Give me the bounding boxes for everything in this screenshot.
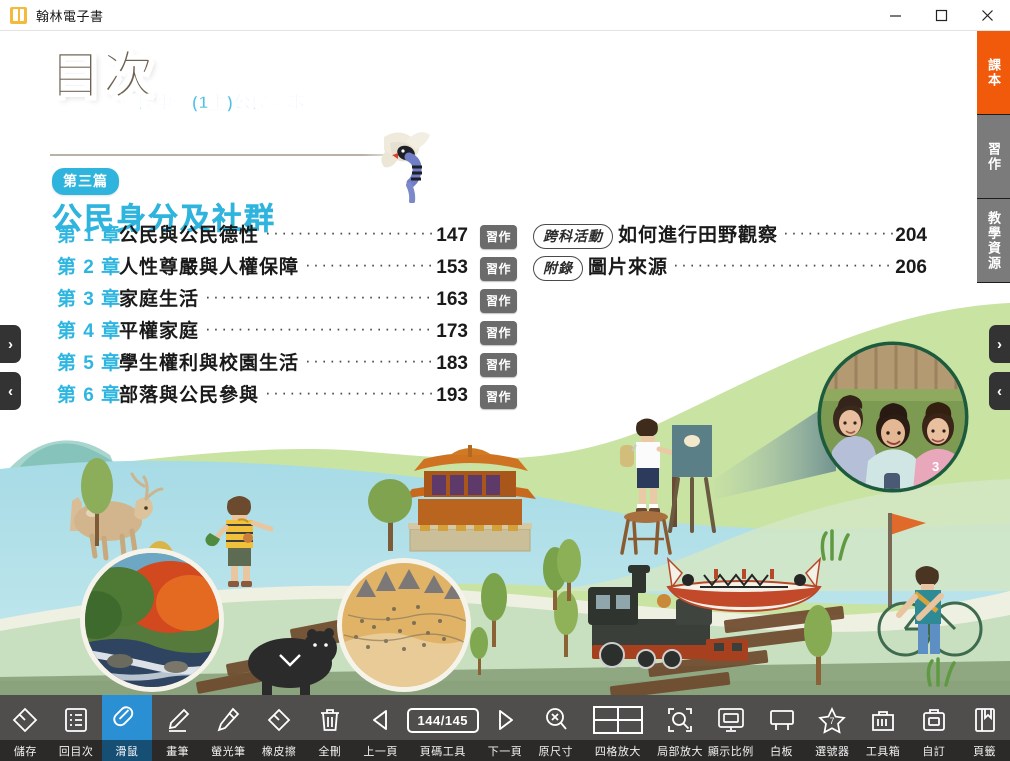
toc-row[interactable]: 第 5 章 學生權利與校園生活 ························… (57, 348, 517, 380)
chapter-page: 153 (434, 257, 474, 279)
toc-right-column: 跨科活動 如何進行田野觀察 ··························… (533, 220, 933, 284)
svg-text:7: 7 (830, 716, 835, 726)
toolbar-label: 白板 (756, 743, 807, 759)
chapter-number: 第 6 章 (57, 380, 119, 407)
toolbar-label: 上一頁 (355, 743, 406, 759)
highlighter-icon (215, 701, 241, 739)
toolbar-button-custom[interactable]: 自訂 (908, 695, 959, 761)
toc-left-column: 第 1 章 公民與公民德性 ··························… (57, 220, 517, 412)
chapter-title: 學生權利與校園生活 (119, 348, 305, 375)
bottom-toolbar: 儲存 回目次 滑鼠 (0, 695, 1010, 761)
blue-magpie-bird-icon (376, 123, 432, 203)
toc-row[interactable]: 第 3 章 家庭生活 ·····························… (57, 284, 517, 316)
workbook-button[interactable]: 習作 (480, 353, 517, 377)
custom-briefcase-icon (920, 701, 948, 739)
page-number-box-icon: 144/145 (407, 701, 480, 739)
toolbar-button-clear-all[interactable]: 全刪 (305, 695, 356, 761)
toolbar-button-save[interactable]: 儲存 (0, 695, 51, 761)
chapter-number: 第 3 章 (57, 284, 119, 311)
ebook-reader-window: 翰林電子書 (0, 0, 1010, 761)
minimize-icon[interactable] (872, 0, 918, 31)
toolbar-label: 工具箱 (858, 743, 909, 759)
toolbar-label: 螢光筆 (203, 743, 254, 759)
workbook-button[interactable]: 習作 (480, 385, 517, 409)
bookmark-tab-icon (972, 701, 998, 739)
chapter-page: 183 (434, 353, 474, 375)
toolbar-button-page-tool[interactable]: 144/145 頁碼工具 (406, 695, 480, 761)
window-controls (872, 0, 1010, 31)
region-zoom-icon (666, 701, 694, 739)
toc-row[interactable]: 第 6 章 部落與公民參與 ··························… (57, 380, 517, 412)
toc-row[interactable]: 跨科活動 如何進行田野觀察 ··························… (533, 220, 933, 252)
trash-icon (318, 701, 342, 739)
toolbar-button-region-zoom[interactable]: 局部放大 (655, 695, 706, 761)
toolbar-label: 橡皮擦 (254, 743, 305, 759)
maximize-icon[interactable] (918, 0, 964, 31)
toc-row[interactable]: 第 2 章 人性尊嚴與人權保障 ························… (57, 252, 517, 284)
leader-dots: ······························ (265, 383, 434, 403)
toolbar-button-display-scale[interactable]: 顯示比例 (705, 695, 756, 761)
leader-dots: ······························ (205, 319, 434, 339)
section-title: 圖片來源 (588, 252, 673, 279)
resource-tabs: 課本 習作 教學資源 (977, 31, 1010, 283)
workbook-button[interactable]: 習作 (480, 225, 517, 249)
sidebar-item-textbook[interactable]: 課本 (977, 31, 1010, 115)
toolbar-button-whiteboard[interactable]: 白板 (756, 695, 807, 761)
toolbar-label: 回目次 (51, 743, 102, 759)
toolbar-label: 原尺寸 (530, 743, 581, 759)
section-tag: 附錄 (533, 256, 583, 281)
toc-row[interactable]: 第 4 章 平權家庭 ·····························… (57, 316, 517, 348)
mouse-cursor-icon (112, 701, 142, 739)
toolbar-label: 滑鼠 (102, 743, 153, 759)
toolbar-label: 自訂 (908, 743, 959, 759)
chapter-number: 第 4 章 (57, 316, 119, 343)
workbook-button[interactable]: 習作 (480, 257, 517, 281)
toolbar-button-next-page[interactable]: 下一頁 (480, 695, 531, 761)
chapter-number: 第 2 章 (57, 252, 119, 279)
section-page: 204 (893, 225, 933, 247)
leader-dots: ······························ (205, 287, 434, 307)
next-page-triangle-icon (492, 701, 518, 739)
leader-dots: ······························ (265, 223, 434, 243)
leader-dots: ······························ (783, 223, 893, 243)
chapter-page: 173 (434, 321, 474, 343)
toolbar-label: 儲存 (0, 743, 51, 759)
chapter-number: 第 1 章 (57, 220, 119, 247)
toc-row[interactable]: 第 1 章 公民與公民德性 ··························… (57, 220, 517, 252)
toolbar-button-mouse[interactable]: 滑鼠 (102, 695, 153, 761)
toolbar-button-eraser[interactable]: 橡皮擦 (254, 695, 305, 761)
toolbar-button-original-size[interactable]: 原尺寸 (530, 695, 581, 761)
toolbar-label: 畫筆 (152, 743, 203, 759)
sidebar-item-teaching-resources[interactable]: 教學資源 (977, 199, 1010, 283)
chapter-title: 部落與公民參與 (119, 380, 265, 407)
chapter-number: 第 5 章 (57, 348, 119, 375)
toolbar-button-highlighter[interactable]: 螢光筆 (203, 695, 254, 761)
toolbar-button-prev-page[interactable]: 上一頁 (355, 695, 406, 761)
header-divider (50, 154, 406, 156)
svg-text:3: 3 (932, 459, 939, 474)
workbook-button[interactable]: 習作 (480, 321, 517, 345)
display-scale-icon (716, 701, 746, 739)
number-picker-star-icon: 7 (817, 701, 847, 739)
leader-dots: ······························ (305, 351, 434, 371)
prev-page-triangle-icon (368, 701, 394, 739)
sidebar-item-workbook[interactable]: 習作 (977, 115, 1010, 199)
title-bar: 翰林電子書 (0, 0, 1010, 31)
book-icon (10, 7, 27, 24)
section-title: 如何進行田野觀察 (618, 220, 783, 247)
toolbar-button-toolbox[interactable]: 工具箱 (858, 695, 909, 761)
toolbar-label: 顯示比例 (705, 743, 756, 759)
toolbar-button-quad-zoom[interactable]: 四格放大 (581, 695, 655, 761)
toolbar-label: 選號器 (807, 743, 858, 759)
right-next-arrow-icon[interactable]: › (989, 325, 1010, 363)
toolbox-icon (869, 701, 897, 739)
section-page: 206 (893, 257, 933, 279)
chapter-page: 193 (434, 385, 474, 407)
left-prev-arrow-icon[interactable]: ‹ (0, 372, 21, 410)
leader-dots: ······························ (305, 255, 434, 275)
book-page: 3 (0, 31, 1010, 695)
pen-icon (165, 701, 191, 739)
section-tag: 跨科活動 (533, 224, 613, 249)
window-title: 翰林電子書 (36, 6, 104, 25)
toolbar-label: 四格放大 (581, 743, 655, 759)
toolbar-button-pen[interactable]: 畫筆 (152, 695, 203, 761)
chapter-title: 人性尊嚴與人權保障 (119, 252, 305, 279)
chapter-title: 家庭生活 (119, 284, 205, 311)
chapter-page: 163 (434, 289, 474, 311)
whiteboard-icon (768, 701, 796, 739)
toc-row[interactable]: 附錄 圖片來源 ······························ 2… (533, 252, 933, 284)
chapter-title: 平權家庭 (119, 316, 205, 343)
chapter-page: 147 (434, 225, 474, 247)
toolbar-label: 全刪 (305, 743, 356, 759)
close-icon[interactable] (964, 0, 1010, 31)
chapter-title: 公民與公民德性 (119, 220, 265, 247)
toolbar-label: 頁籤 (959, 743, 1010, 759)
toolbar-label: 頁碼工具 (406, 743, 480, 759)
toolbar-label: 下一頁 (480, 743, 531, 759)
toolbar-button-contents[interactable]: 回目次 (51, 695, 102, 761)
eraser-icon (265, 701, 293, 739)
page-indicator[interactable]: 144/145 (407, 708, 480, 733)
right-prev-arrow-icon[interactable]: ‹ (989, 372, 1010, 410)
toolbar-button-number-picker[interactable]: 7 選號器 (807, 695, 858, 761)
toolbar-label: 局部放大 (655, 743, 706, 759)
toolbar-button-bookmark-tab[interactable]: 頁籤 (959, 695, 1010, 761)
zoom-original-icon (543, 701, 569, 739)
part-badge: 第三篇 (52, 168, 119, 195)
workbook-button[interactable]: 習作 (480, 289, 517, 313)
quad-zoom-icon (592, 701, 644, 739)
save-diamond-icon (11, 701, 39, 739)
leader-dots: ······························ (673, 255, 893, 275)
contents-list-icon (63, 701, 89, 739)
left-next-arrow-icon[interactable]: › (0, 325, 21, 363)
page-subtitle: 國民中學(1上)公民課本 (120, 88, 306, 113)
